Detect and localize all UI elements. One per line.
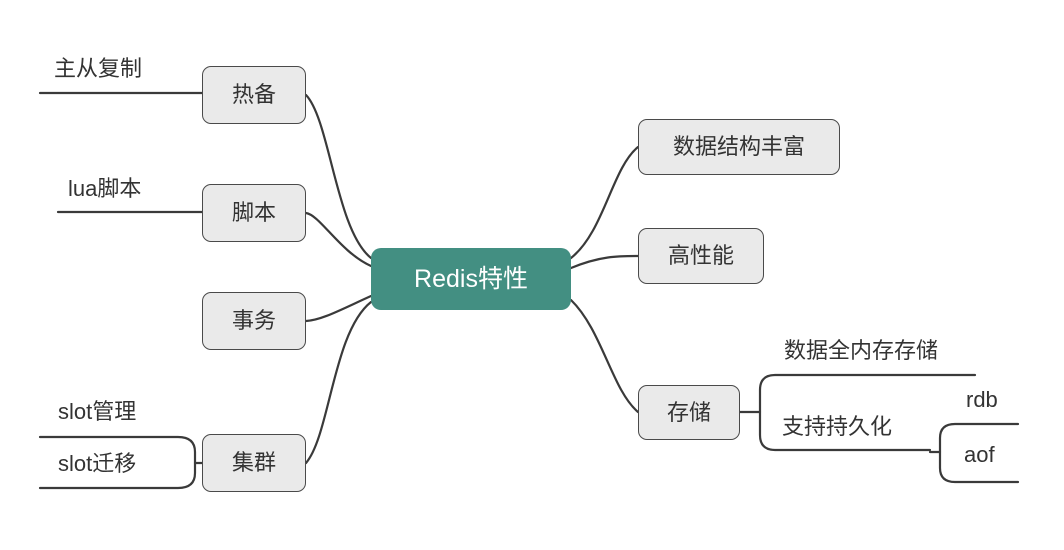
leaf-persistence-support[interactable]: 支持持久化 [782, 416, 892, 438]
node-hot-standby[interactable]: 热备 [202, 66, 306, 124]
edge-root-to-high-perf [571, 256, 638, 268]
root-node-redis-features[interactable]: Redis特性 [371, 248, 571, 310]
edge-root-to-storage [571, 300, 638, 412]
leaf-slot-migration[interactable]: slot迁移 [58, 453, 136, 475]
node-rich-data-structures[interactable]: 数据结构丰富 [638, 119, 840, 175]
edge-root-to-transaction [306, 296, 371, 321]
leaf-rdb[interactable]: rdb [966, 389, 998, 411]
node-cluster[interactable]: 集群 [202, 434, 306, 492]
edge-root-to-cluster [306, 302, 371, 463]
edge-root-to-rich-data [571, 147, 638, 258]
edge-root-to-hot-standby [306, 95, 371, 258]
leaf-slot-management[interactable]: slot管理 [58, 401, 136, 423]
leaf-lua-script[interactable]: lua脚本 [68, 178, 141, 200]
leaf-aof[interactable]: aof [964, 444, 995, 466]
edge-root-to-script [306, 213, 371, 266]
mind-map-canvas: Redis特性 热备 脚本 事务 集群 主从复制 lua脚本 slot管理 sl… [0, 0, 1064, 550]
node-script[interactable]: 脚本 [202, 184, 306, 242]
node-transaction[interactable]: 事务 [202, 292, 306, 350]
node-high-performance[interactable]: 高性能 [638, 228, 764, 284]
node-storage[interactable]: 存储 [638, 385, 740, 440]
leaf-all-in-memory-storage[interactable]: 数据全内存存储 [784, 340, 938, 362]
leaf-master-slave-replication[interactable]: 主从复制 [54, 58, 142, 80]
